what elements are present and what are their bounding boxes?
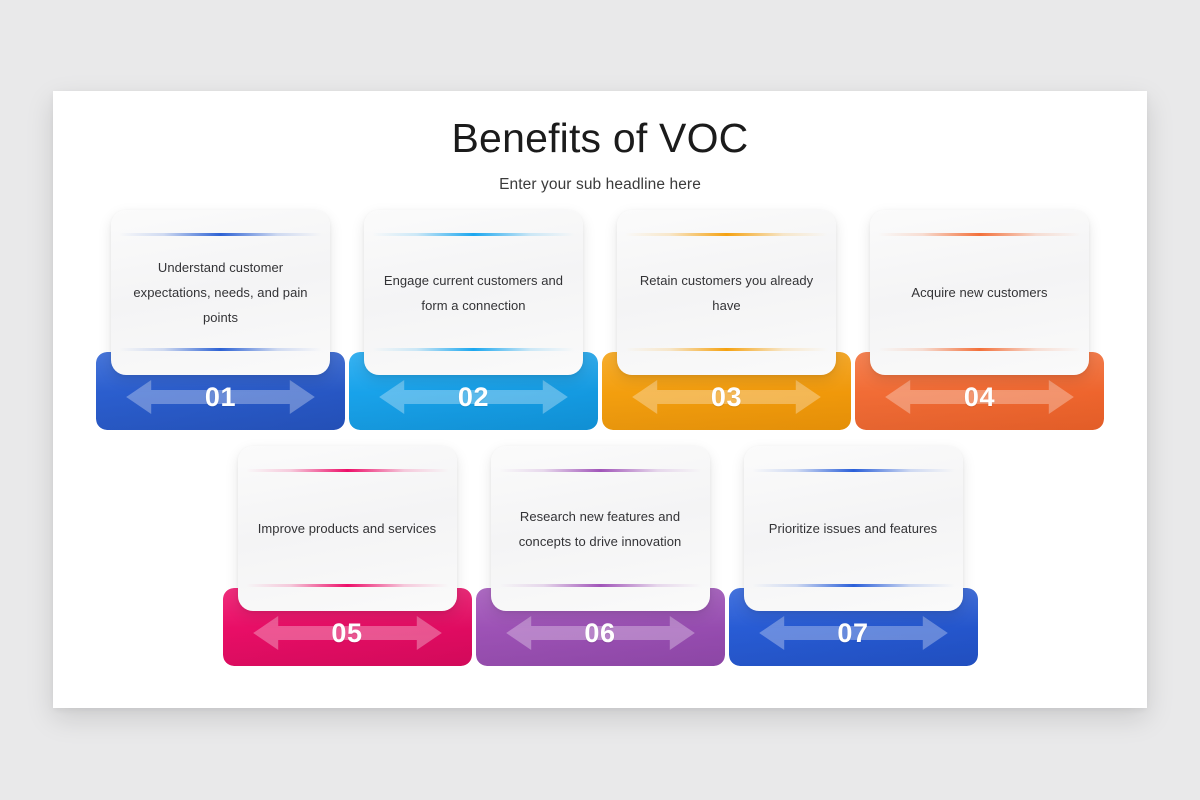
accent-hairline-bottom xyxy=(246,584,449,587)
benefit-card[interactable]: 07Prioritize issues and features xyxy=(727,446,980,666)
card-grid: 01Understand customer expectations, need… xyxy=(53,91,1147,708)
accent-hairline-top xyxy=(499,469,702,472)
card-row-top: 01Understand customer expectations, need… xyxy=(53,210,1147,430)
benefit-card[interactable]: 02Engage current customers and form a co… xyxy=(347,210,600,430)
card-panel[interactable]: Improve products and services xyxy=(238,446,457,611)
card-description: Research new features and concepts to dr… xyxy=(505,504,695,554)
card-panel[interactable]: Prioritize issues and features xyxy=(744,446,963,611)
card-panel[interactable]: Research new features and concepts to dr… xyxy=(491,446,710,611)
slide-canvas: Benefits of VOC Enter your sub headline … xyxy=(53,91,1147,708)
card-number-label: 03 xyxy=(602,377,851,417)
card-description: Understand customer expectations, needs,… xyxy=(126,255,316,330)
benefit-card[interactable]: 03Retain customers you already have xyxy=(600,210,853,430)
card-number-label: 01 xyxy=(96,377,345,417)
card-description: Improve products and services xyxy=(252,516,442,541)
card-description: Prioritize issues and features xyxy=(758,516,948,541)
card-description: Engage current customers and form a conn… xyxy=(379,268,569,318)
card-number-label: 02 xyxy=(349,377,598,417)
accent-hairline-top xyxy=(878,233,1081,236)
card-number-label: 07 xyxy=(729,613,978,653)
card-panel[interactable]: Understand customer expectations, needs,… xyxy=(111,210,330,375)
card-number-label: 04 xyxy=(855,377,1104,417)
accent-hairline-bottom xyxy=(752,584,955,587)
accent-hairline-bottom xyxy=(878,348,1081,351)
card-panel[interactable]: Engage current customers and form a conn… xyxy=(364,210,583,375)
accent-hairline-top xyxy=(246,469,449,472)
accent-hairline-top xyxy=(119,233,322,236)
accent-hairline-top xyxy=(752,469,955,472)
accent-hairline-top xyxy=(372,233,575,236)
accent-hairline-bottom xyxy=(119,348,322,351)
card-number-label: 05 xyxy=(223,613,472,653)
card-description: Acquire new customers xyxy=(885,280,1075,305)
benefit-card[interactable]: 04Acquire new customers xyxy=(853,210,1106,430)
accent-hairline-bottom xyxy=(372,348,575,351)
benefit-card[interactable]: 01Understand customer expectations, need… xyxy=(94,210,347,430)
card-number-label: 06 xyxy=(476,613,725,653)
accent-hairline-bottom xyxy=(625,348,828,351)
benefit-card[interactable]: 05Improve products and services xyxy=(221,446,474,666)
accent-hairline-bottom xyxy=(499,584,702,587)
card-row-bottom: 05Improve products and services06Researc… xyxy=(53,446,1147,666)
benefit-card[interactable]: 06Research new features and concepts to … xyxy=(474,446,727,666)
card-description: Retain customers you already have xyxy=(632,268,822,318)
accent-hairline-top xyxy=(625,233,828,236)
card-panel[interactable]: Acquire new customers xyxy=(870,210,1089,375)
card-panel[interactable]: Retain customers you already have xyxy=(617,210,836,375)
